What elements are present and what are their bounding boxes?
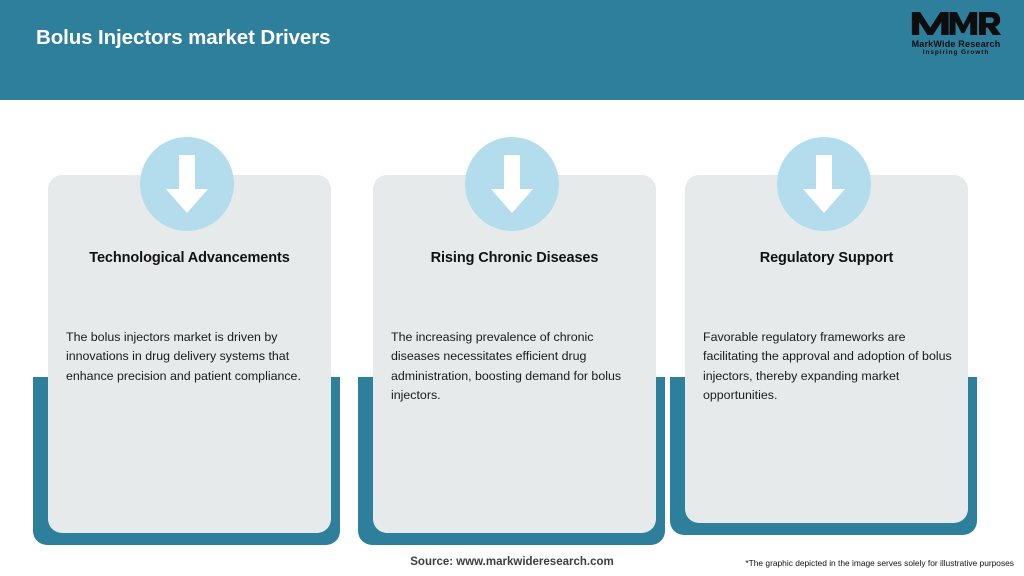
arrow-down-icon <box>777 137 871 231</box>
arrow-down-glyph <box>164 153 210 215</box>
card-title: Technological Advancements <box>48 250 331 266</box>
arrow-down-glyph <box>489 153 535 215</box>
logo-company-name: MarkWide Research <box>912 39 1001 49</box>
arrow-down-glyph <box>801 153 847 215</box>
card-title: Regulatory Support <box>685 250 968 266</box>
card-body-text: The increasing prevalence of chronic dis… <box>391 328 641 406</box>
driver-card-1[interactable]: Technological Advancements The bolus inj… <box>30 100 346 540</box>
driver-card-3[interactable]: Regulatory Support Favorable regulatory … <box>667 100 983 540</box>
driver-card-2[interactable]: Rising Chronic Diseases The increasing p… <box>355 100 671 540</box>
page-title: Bolus Injectors market Drivers <box>36 26 330 50</box>
brand-logo: MarkWide Research Inspiring Growth <box>904 8 1008 64</box>
disclaimer-label: *The graphic depicted in the image serve… <box>745 558 1014 568</box>
card-body-text: Favorable regulatory frameworks are faci… <box>703 328 953 406</box>
page-header: Bolus Injectors market Drivers MarkWide … <box>0 0 1024 100</box>
arrow-down-icon <box>140 137 234 231</box>
drivers-card-row: Technological Advancements The bolus inj… <box>0 100 1024 540</box>
mwr-logo-icon <box>910 8 1002 38</box>
arrow-down-icon <box>465 137 559 231</box>
card-body-text: The bolus injectors market is driven by … <box>66 328 316 386</box>
card-title: Rising Chronic Diseases <box>373 250 656 266</box>
logo-tagline: Inspiring Growth <box>923 49 989 57</box>
